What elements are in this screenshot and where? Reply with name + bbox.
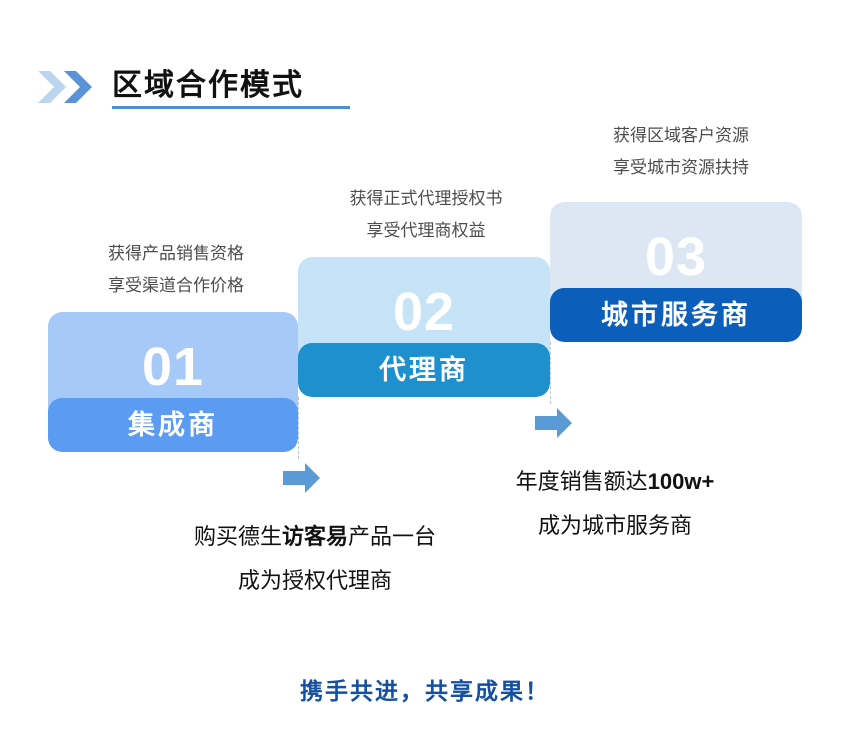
level-number-03: 03 <box>645 230 707 284</box>
requirement-line-1: 年度销售额达100w+ <box>455 460 775 504</box>
footer-slogan: 携手共进，共享成果！ <box>0 672 850 706</box>
requirement-suffix: 产品一台 <box>348 524 436 549</box>
requirement-line-2: 成为城市服务商 <box>455 504 775 548</box>
title-underline <box>112 106 350 109</box>
level-name-02: 代理商 <box>379 357 469 384</box>
requirement-prefix: 年度销售额达 <box>516 469 648 494</box>
page-title: 区域合作模式 <box>112 68 350 104</box>
level-card-03[interactable]: 03 城市服务商 <box>550 202 802 342</box>
chevron-right-icon-dark <box>62 70 96 104</box>
benefit-line: 享受代理商权益 <box>306 215 546 247</box>
level-benefits-02: 获得正式代理授权书 享受代理商权益 <box>306 183 546 247</box>
requirement-line-1: 购买德生访客易产品一台 <box>145 515 485 559</box>
connector-dashed-line-2 <box>550 342 551 404</box>
requirement-emphasis: 100w+ <box>648 469 715 494</box>
benefit-line: 获得区域客户资源 <box>558 120 804 152</box>
requirement-statement-2: 年度销售额达100w+ 成为城市服务商 <box>455 460 775 548</box>
level-benefits-03: 获得区域客户资源 享受城市资源扶持 <box>558 120 804 184</box>
connector-dashed-line-1 <box>298 397 299 459</box>
page-title-wrap: 区域合作模式 <box>112 68 350 109</box>
level-band-01: 集成商 <box>48 398 298 452</box>
slide-canvas: 区域合作模式 获得产品销售资格 享受渠道合作价格 获得正式代理授权书 享受代理商… <box>0 0 850 737</box>
level-card-01[interactable]: 01 集成商 <box>48 312 298 452</box>
benefit-line: 获得产品销售资格 <box>56 238 296 270</box>
requirement-prefix: 购买德生 <box>194 524 282 549</box>
benefit-line: 获得正式代理授权书 <box>306 183 546 215</box>
benefit-line: 享受渠道合作价格 <box>56 270 296 302</box>
level-card-02[interactable]: 02 代理商 <box>298 257 550 397</box>
requirement-emphasis: 访客易 <box>282 524 348 549</box>
arrow-right-icon-1 <box>283 462 321 494</box>
level-benefits-01: 获得产品销售资格 享受渠道合作价格 <box>56 238 296 302</box>
level-name-03: 城市服务商 <box>601 302 751 329</box>
level-number-02: 02 <box>393 285 455 339</box>
level-band-03: 城市服务商 <box>550 288 802 342</box>
chevron-group <box>36 70 108 104</box>
benefit-line: 享受城市资源扶持 <box>558 152 804 184</box>
requirement-statement-1: 购买德生访客易产品一台 成为授权代理商 <box>145 515 485 603</box>
requirement-line-2: 成为授权代理商 <box>145 559 485 603</box>
level-number-01: 01 <box>142 340 204 394</box>
level-name-01: 集成商 <box>128 412 218 439</box>
arrow-right-icon-2 <box>535 407 573 439</box>
level-band-02: 代理商 <box>298 343 550 397</box>
header: 区域合作模式 <box>0 30 850 100</box>
